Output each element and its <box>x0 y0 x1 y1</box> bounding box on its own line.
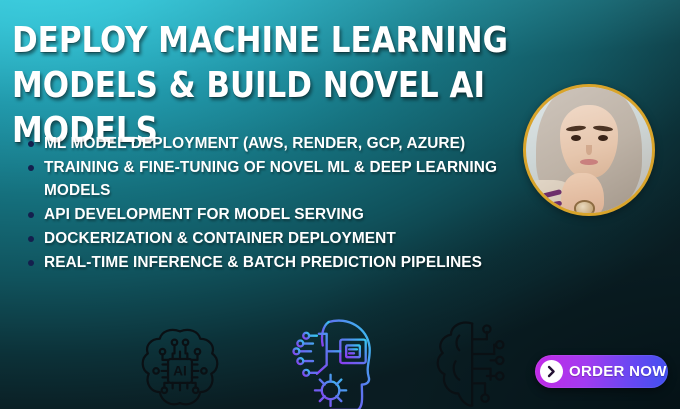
order-now-button[interactable]: ORDER NOW <box>535 355 668 388</box>
chevron-right-icon <box>540 360 563 383</box>
feature-list-item: TRAINING & FINE-TUNING OF NOVEL ML & DEE… <box>28 156 524 202</box>
feature-list: ML MODEL DEPLOYMENT (AWS, RENDER, GCP, A… <box>28 132 524 275</box>
avatar-photo <box>526 87 652 213</box>
svg-text:AI: AI <box>173 364 187 379</box>
head-circuit-gear-icon <box>272 316 394 409</box>
feature-list-item: REAL-TIME INFERENCE & BATCH PREDICTION P… <box>28 251 524 274</box>
avatar <box>523 84 655 216</box>
feature-list-item: ML MODEL DEPLOYMENT (AWS, RENDER, GCP, A… <box>28 132 524 155</box>
gig-thumbnail-banner: DEPLOY MACHINE LEARNING MODELS & BUILD N… <box>0 0 680 409</box>
feature-list-item: DOCKERIZATION & CONTAINER DEPLOYMENT <box>28 227 524 250</box>
ai-brain-chip-icon: AI <box>132 324 228 409</box>
feature-list-item: API DEVELOPMENT FOR MODEL SERVING <box>28 203 524 226</box>
order-now-label: ORDER NOW <box>569 363 667 380</box>
split-brain-circuit-icon <box>428 318 520 409</box>
